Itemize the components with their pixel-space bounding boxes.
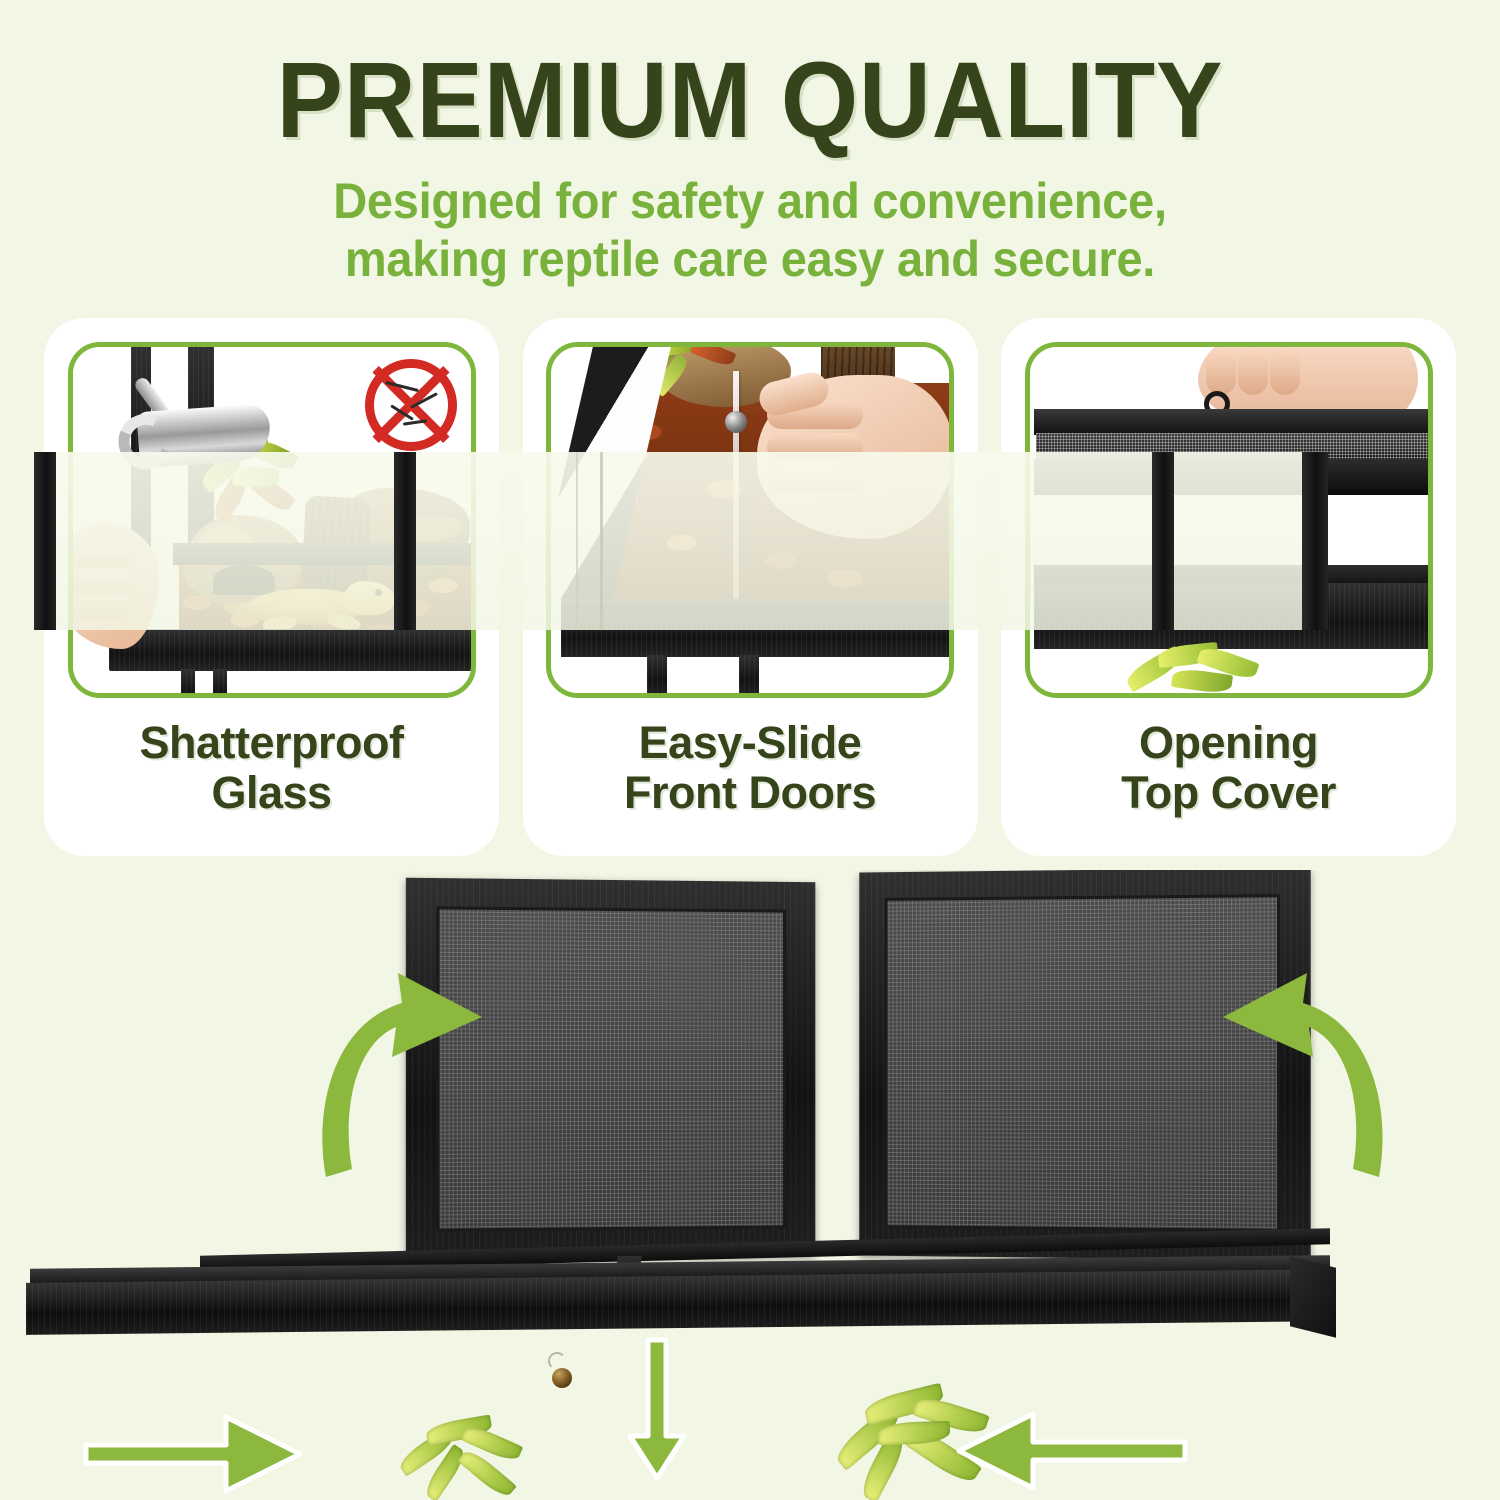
tank-corner-post [1302, 452, 1328, 630]
arrow-close-left-lid-icon [320, 965, 550, 1180]
foliage-decor [1124, 639, 1280, 693]
header: PREMIUM QUALITY Designed for safety and … [0, 0, 1500, 288]
arrow-drop-down-icon [628, 1340, 686, 1480]
card-label: Easy-Slide Front Doors [624, 718, 876, 819]
finger [1238, 349, 1268, 395]
page-subtitle-line-2: making reptile care easy and secure. [45, 230, 1455, 288]
card-label: Shatterproof Glass [140, 718, 404, 819]
stand-leg [181, 669, 195, 693]
finger [1206, 349, 1236, 395]
card-label-line-2: Front Doors [624, 768, 876, 818]
page-title: PREMIUM QUALITY [60, 46, 1440, 154]
arrow-slide-door-left-icon [955, 1412, 1185, 1490]
tank-side-rail [1290, 1256, 1336, 1337]
no-shatter-icon [365, 359, 457, 451]
door-knob-icon [725, 411, 747, 433]
tank-corner-post [1152, 452, 1174, 630]
tank-glass-body [34, 452, 1324, 630]
front-door-knob-icon[interactable] [552, 1368, 572, 1388]
page-subtitle: Designed for safety and convenience, mak… [45, 172, 1455, 288]
card-label-line-1: Shatterproof [140, 718, 404, 768]
card-label-line-1: Easy-Slide [624, 718, 876, 768]
arrow-close-right-lid-icon [1155, 965, 1385, 1180]
card-label: Opening Top Cover [1121, 718, 1336, 819]
card-label-line-2: Glass [140, 768, 404, 818]
stand-leg [647, 655, 667, 693]
top-cover-front-rail [1034, 409, 1428, 435]
page-subtitle-line-1: Designed for safety and convenience, [45, 172, 1455, 230]
tank-corner-post [34, 452, 56, 630]
door-seam [600, 452, 603, 630]
foliage-decor [396, 1408, 546, 1500]
finger [1270, 349, 1300, 395]
arrow-slide-door-right-icon [86, 1415, 302, 1493]
stand-leg [213, 669, 227, 693]
card-label-line-1: Opening [1121, 718, 1336, 768]
door-seam [576, 452, 578, 630]
stand-leg [739, 655, 759, 693]
tank-corner-post [394, 452, 416, 630]
card-label-line-2: Top Cover [1121, 768, 1336, 818]
